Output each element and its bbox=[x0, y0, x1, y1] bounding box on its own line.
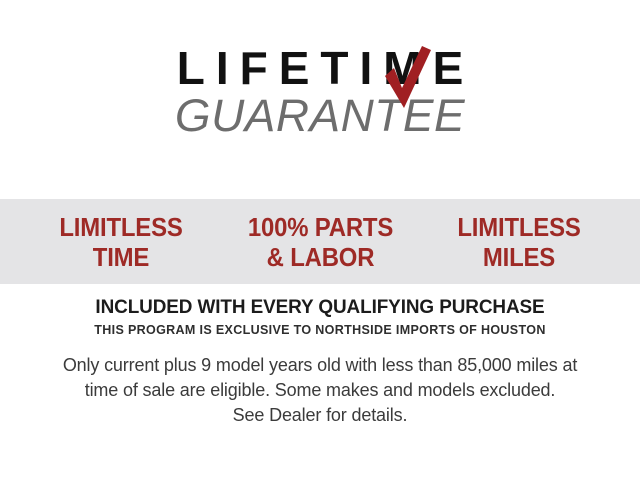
benefit-parts-line2: & LABOR bbox=[226, 242, 415, 272]
logo-primary-text: LIFETIME bbox=[0, 44, 640, 92]
fineprint-line-2: time of sale are eligible. Some makes an… bbox=[37, 378, 603, 403]
logo-block: LIFETIME GUARANTEE bbox=[0, 44, 640, 164]
fineprint-line-1: Only current plus 9 model years old with… bbox=[37, 353, 603, 378]
benefit-time-line2: TIME bbox=[34, 242, 209, 272]
benefit-column-parts-labor: 100% PARTS & LABOR bbox=[226, 212, 415, 272]
benefit-time-line1: LIMITLESS bbox=[34, 212, 209, 242]
logo-secondary-text: GUARANTEE bbox=[0, 92, 640, 140]
fineprint: Only current plus 9 model years old with… bbox=[37, 353, 603, 428]
benefit-column-miles: LIMITLESS MILES bbox=[432, 212, 607, 272]
copy-block: INCLUDED WITH EVERY QUALIFYING PURCHASE … bbox=[0, 296, 640, 428]
benefit-miles-line2: MILES bbox=[432, 242, 607, 272]
benefit-column-time: LIMITLESS TIME bbox=[34, 212, 209, 272]
logo-wordmark: LIFETIME GUARANTEE bbox=[0, 44, 640, 140]
fineprint-line-3: See Dealer for details. bbox=[37, 403, 603, 428]
benefits-banner: LIMITLESS TIME 100% PARTS & LABOR LIMITL… bbox=[0, 199, 640, 284]
lifetime-guarantee-ad: LIFETIME GUARANTEE LIMITLESS TIME 100% P… bbox=[0, 0, 640, 480]
benefit-parts-line1: 100% PARTS bbox=[226, 212, 415, 242]
benefit-miles-line1: LIMITLESS bbox=[432, 212, 607, 242]
headline: INCLUDED WITH EVERY QUALIFYING PURCHASE bbox=[10, 296, 631, 319]
subheadline: THIS PROGRAM IS EXCLUSIVE TO NORTHSIDE I… bbox=[16, 320, 624, 339]
